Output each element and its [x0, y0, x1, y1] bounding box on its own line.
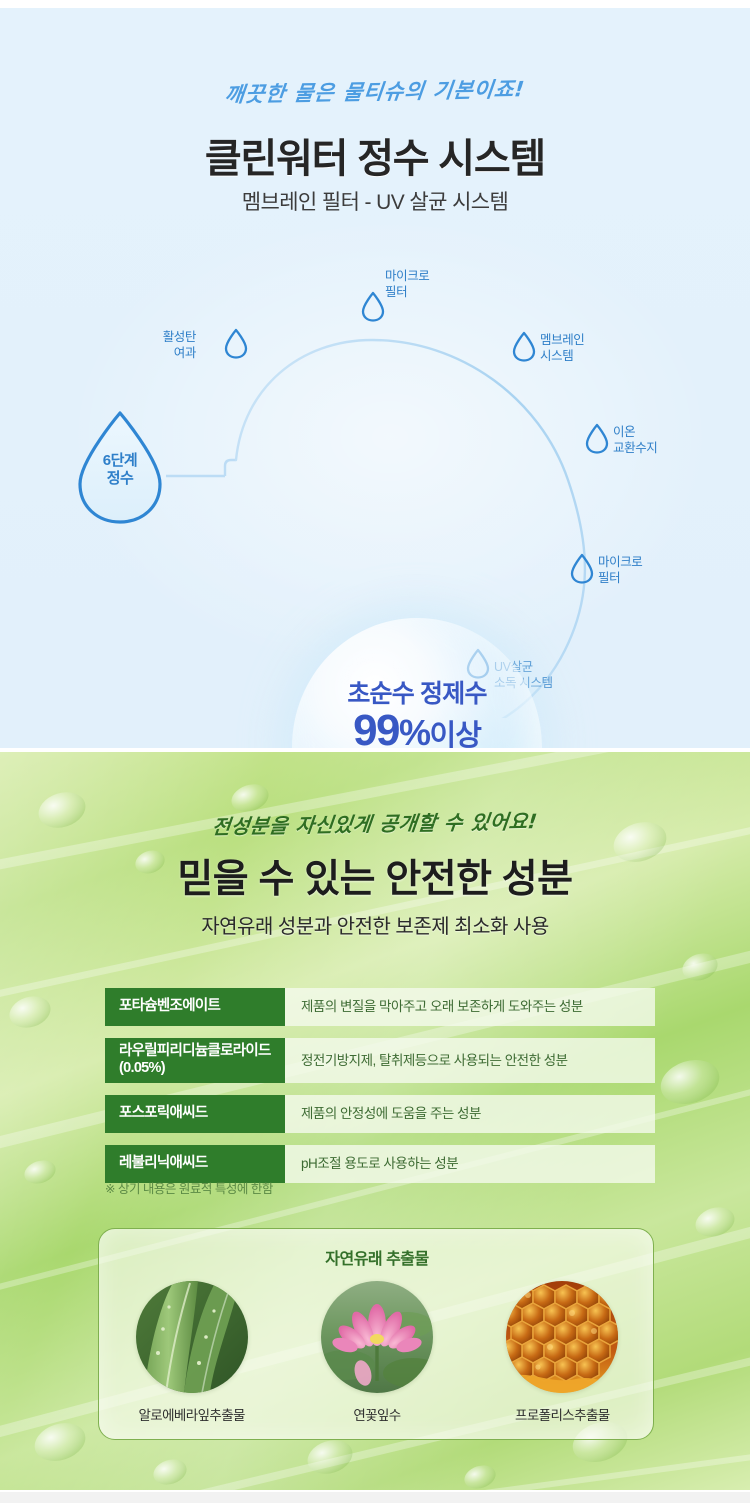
water-section-title: 클린워터 정수 시스템: [0, 126, 750, 184]
purity-value: 99: [353, 706, 399, 748]
ingredient-name-cell: 포스포릭애씨드: [105, 1095, 285, 1133]
ingredients-section-subtitle: 자연유래 성분과 안전한 보존제 최소화 사용: [0, 910, 750, 939]
ingredient-desc-cell: 제품의 안정성에 도움을 주는 성분: [285, 1095, 655, 1133]
ingredient-name: 라우릴피리디늄클로라이드: [119, 1043, 285, 1060]
footer-strip: [0, 1492, 750, 1503]
list-item: 알로에베라잎추출물: [99, 1281, 284, 1424]
ingredient-desc-cell: pH조절 용도로 사용하는 성분: [285, 1145, 655, 1183]
propolis-honeycomb-photo: [506, 1281, 618, 1393]
ingredient-name: 레불리닉애씨드: [119, 1155, 285, 1172]
ingredient-name-cell: 포타슘벤조에이트: [105, 988, 285, 1026]
ingredients-section-title: 믿을 수 있는 안전한 성분: [0, 848, 750, 904]
extract-caption: 프로폴리스추출물: [515, 1404, 610, 1424]
aloe-leaf-icon: [136, 1281, 248, 1393]
node-label: 마이크로 필터: [598, 555, 642, 586]
water-drop-icon: [570, 553, 594, 584]
extract-caption: 연꽃잎수: [353, 1404, 400, 1424]
list-item: 연꽃잎수: [284, 1281, 469, 1424]
entry-droplet-label: 6단계 정수: [74, 452, 166, 487]
list-item: 프로폴리스추출물: [470, 1281, 655, 1424]
honeycomb-icon: [506, 1281, 618, 1393]
ingredient-name: 포스포릭애씨드: [119, 1105, 285, 1122]
water-drop-icon: [361, 291, 385, 322]
water-drop-icon: [512, 331, 536, 362]
ingredient-desc-cell: 정전기방지제, 탈취제등으로 사용되는 안전한 성분: [285, 1038, 655, 1083]
water-handwritten-tagline: 깨끗한 물은 물티슈의 기본이죠!: [0, 69, 750, 113]
lotus-flower-icon: [321, 1281, 433, 1393]
purity-label: 초순수 정제수: [292, 674, 542, 710]
ingredient-name-secondary: (0.05%): [119, 1060, 285, 1077]
node-label: 마이크로 필터: [385, 269, 429, 300]
aloe-vera-photo: [136, 1281, 248, 1393]
table-row: 포스포릭애씨드 제품의 안정성에 도움을 주는 성분: [105, 1095, 655, 1133]
ingredient-name: 포타슘벤조에이트: [119, 998, 285, 1015]
table-row: 포타슘벤조에이트 제품의 변질을 막아주고 오래 보존하게 도와주는 성분: [105, 988, 655, 1026]
node-label: 이온 교환수지: [613, 425, 657, 456]
node-label: 멤브레인 시스템: [540, 333, 584, 364]
clean-water-section: 깨끗한 물은 물티슈의 기본이죠! 클린워터 정수 시스템 멤브레인 필터 - …: [0, 8, 750, 748]
purity-value-group: 99%이상: [292, 706, 542, 748]
water-section-subtitle: 멤브레인 필터 - UV 살균 시스템: [0, 186, 750, 216]
extract-panel-title: 자연유래 추출물: [99, 1245, 655, 1269]
purification-flow-diagram: 6단계 정수 활성탄 여과 마이크로 필터: [0, 248, 750, 718]
ingredients-table: 포타슘벤조에이트 제품의 변질을 막아주고 오래 보존하게 도와주는 성분 라우…: [105, 988, 655, 1195]
table-row: 라우릴피리디늄클로라이드 (0.05%) 정전기방지제, 탈취제등으로 사용되는…: [105, 1038, 655, 1083]
ingredient-desc-cell: 제품의 변질을 막아주고 오래 보존하게 도와주는 성분: [285, 988, 655, 1026]
entry-droplet-6-stage: 6단계 정수: [74, 408, 166, 526]
natural-extract-panel: 자연유래 추출물: [98, 1228, 654, 1440]
water-drop-icon: [585, 423, 609, 454]
ingredients-footnote: ※ 상기 내용은 원료적 특성에 한함: [105, 1178, 273, 1197]
water-drop-icon: [224, 328, 248, 359]
extract-caption: 알로에베라잎추출물: [138, 1404, 244, 1424]
ingredient-name-cell: 라우릴피리디늄클로라이드 (0.05%): [105, 1038, 285, 1083]
extract-items: 알로에베라잎추출물: [99, 1281, 655, 1424]
purity-suffix: 이상: [430, 720, 481, 748]
node-label: 활성탄 여과: [163, 330, 196, 361]
top-white-strip: [0, 0, 750, 8]
purity-percent-sign: %: [399, 712, 430, 748]
lotus-flower-photo: [321, 1281, 433, 1393]
